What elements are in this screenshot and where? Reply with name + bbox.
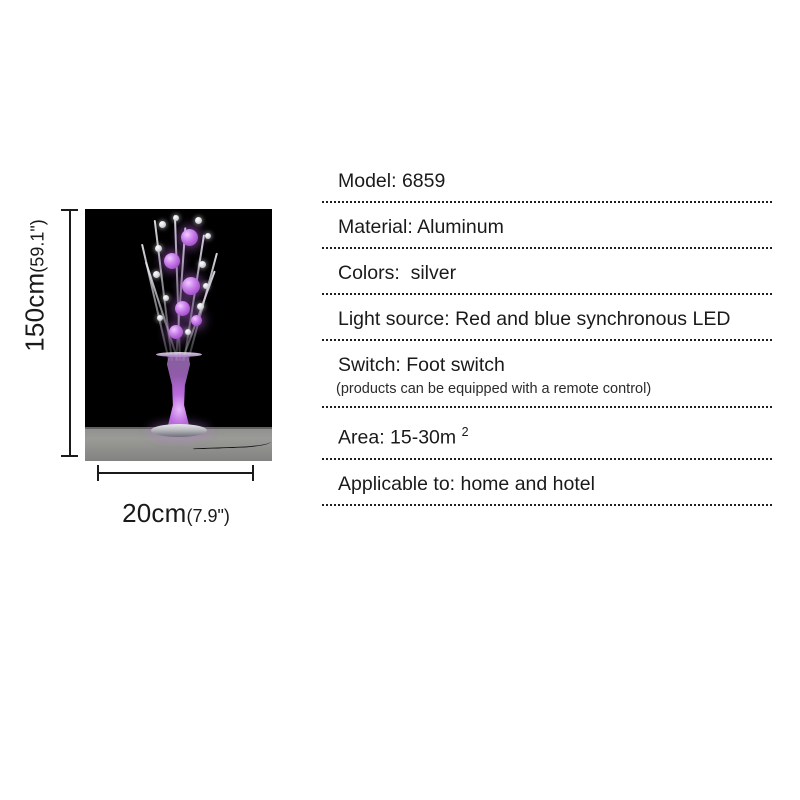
crystal-flower — [163, 295, 169, 301]
width-dimension-cap-left — [97, 465, 99, 481]
spec-row-light-source: Light source: Red and blue synchronous L… — [322, 295, 772, 341]
crystal-flower — [157, 315, 163, 321]
crystal-flower — [197, 303, 204, 310]
spec-area-value: Area: 15-30m — [338, 427, 456, 449]
spec-row-switch: Switch: Foot switch (products can be equ… — [322, 341, 772, 408]
crystal-flower — [173, 215, 179, 221]
product-photo — [85, 209, 272, 461]
height-dimension-label: 150cm(59.1") — [20, 206, 51, 366]
height-imperial: (59.1") — [28, 219, 48, 272]
spec-row-colors: Colors: silver — [322, 249, 772, 295]
spec-area-text: Area: 15-30m 2 — [338, 419, 772, 451]
spec-model-text: Model: 6859 — [338, 168, 772, 194]
spec-row-model: Model: 6859 — [322, 163, 772, 203]
specification-list: Model: 6859 Material: Aluminum Colors: s… — [322, 163, 772, 506]
crystal-flower — [155, 245, 162, 252]
lamp-base-disc — [151, 424, 207, 437]
spec-switch-note: (products can be equipped with a remote … — [336, 379, 772, 399]
spec-material-text: Material: Aluminum — [338, 214, 772, 240]
width-dimension-line — [97, 472, 253, 474]
height-dimension-cap-bottom — [61, 455, 78, 457]
lamp-orb — [169, 325, 183, 339]
spec-row-area: Area: 15-30m 2 — [322, 408, 772, 460]
lamp-orb — [181, 229, 198, 246]
height-dimension-cap-top — [61, 209, 78, 211]
height-value: 150cm — [20, 273, 50, 352]
spec-area-superscript: 2 — [462, 425, 469, 439]
spec-light-source-text: Light source: Red and blue synchronous L… — [338, 306, 772, 332]
spec-colors-text: Colors: silver — [338, 260, 772, 286]
crystal-flower — [199, 261, 206, 268]
crystal-flower — [153, 271, 160, 278]
lamp-orb — [164, 253, 180, 269]
glowing-vase — [159, 355, 199, 431]
width-dimension-label: 20cm(7.9") — [97, 498, 255, 529]
crystal-flower — [203, 283, 209, 289]
lamp-orb — [175, 301, 190, 316]
lamp-orb — [182, 277, 200, 295]
lamp-orb — [191, 315, 202, 326]
lamp-stems-group — [119, 211, 239, 361]
crystal-flower — [195, 217, 202, 224]
height-dimension-line — [69, 209, 71, 456]
crystal-flower — [185, 329, 191, 335]
spec-row-material: Material: Aluminum — [322, 203, 772, 249]
crystal-flower — [205, 233, 211, 239]
width-imperial: (7.9") — [186, 506, 229, 526]
spec-row-applicable: Applicable to: home and hotel — [322, 460, 772, 506]
spec-applicable-text: Applicable to: home and hotel — [338, 471, 772, 497]
width-value: 20cm — [122, 498, 186, 528]
width-dimension-cap-right — [252, 465, 254, 481]
spec-switch-text: Switch: Foot switch — [338, 352, 772, 378]
product-image-block: 150cm(59.1") 20cm(7.9") — [0, 0, 320, 560]
crystal-flower — [159, 221, 166, 228]
